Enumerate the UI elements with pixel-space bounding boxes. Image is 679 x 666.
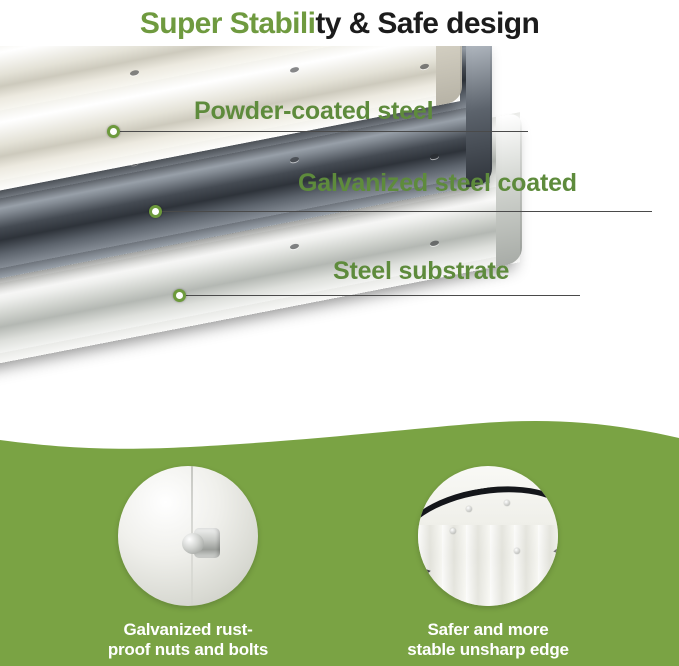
callout-marker-dot (173, 289, 186, 302)
bolt-dome-head (182, 533, 204, 554)
callout-marker-dot (107, 125, 120, 138)
feature-galvanized-bolts: Galvanized rust- proof nuts and bolts (68, 466, 308, 660)
callout-marker-dot (149, 205, 162, 218)
feature-unsharp-edge: Safer and more stable unsharp edge (368, 466, 608, 660)
sheet-edge-bead (466, 46, 492, 188)
edge-rivet (504, 500, 510, 506)
callout-label: Powder-coated steel (194, 99, 433, 124)
callout-label: Steel substrate (333, 259, 509, 284)
sheet-edge-bead (436, 46, 462, 106)
headline: Super Stability & Safe design (0, 0, 679, 48)
feature-caption-line-2: proof nuts and bolts (68, 640, 308, 660)
rolled-edge-closeup-photo (418, 466, 558, 606)
callout-leader-line (184, 295, 580, 296)
feature-caption-line-1: Safer and more (368, 620, 608, 640)
callout-leader-line (160, 211, 652, 212)
feature-caption: Safer and more stable unsharp edge (368, 620, 608, 660)
feature-caption-line-1: Galvanized rust- (68, 620, 308, 640)
bolt-nut-hardware (182, 528, 220, 558)
headline-dark-part: ty & Safe design (315, 9, 539, 39)
feature-caption-line-2: stable unsharp edge (368, 640, 608, 660)
callout-label: Galvanized steel coated (298, 171, 577, 196)
edge-rivet (514, 548, 520, 554)
feature-caption: Galvanized rust- proof nuts and bolts (68, 620, 308, 660)
edge-rivet (466, 506, 472, 512)
callout-leader-line (118, 131, 528, 132)
bolt-closeup-photo (118, 466, 258, 606)
product-infographic: Super Stability & Safe design (0, 0, 679, 666)
edge-rivet (450, 528, 456, 534)
headline-green-part: Super Stabili (140, 9, 316, 39)
